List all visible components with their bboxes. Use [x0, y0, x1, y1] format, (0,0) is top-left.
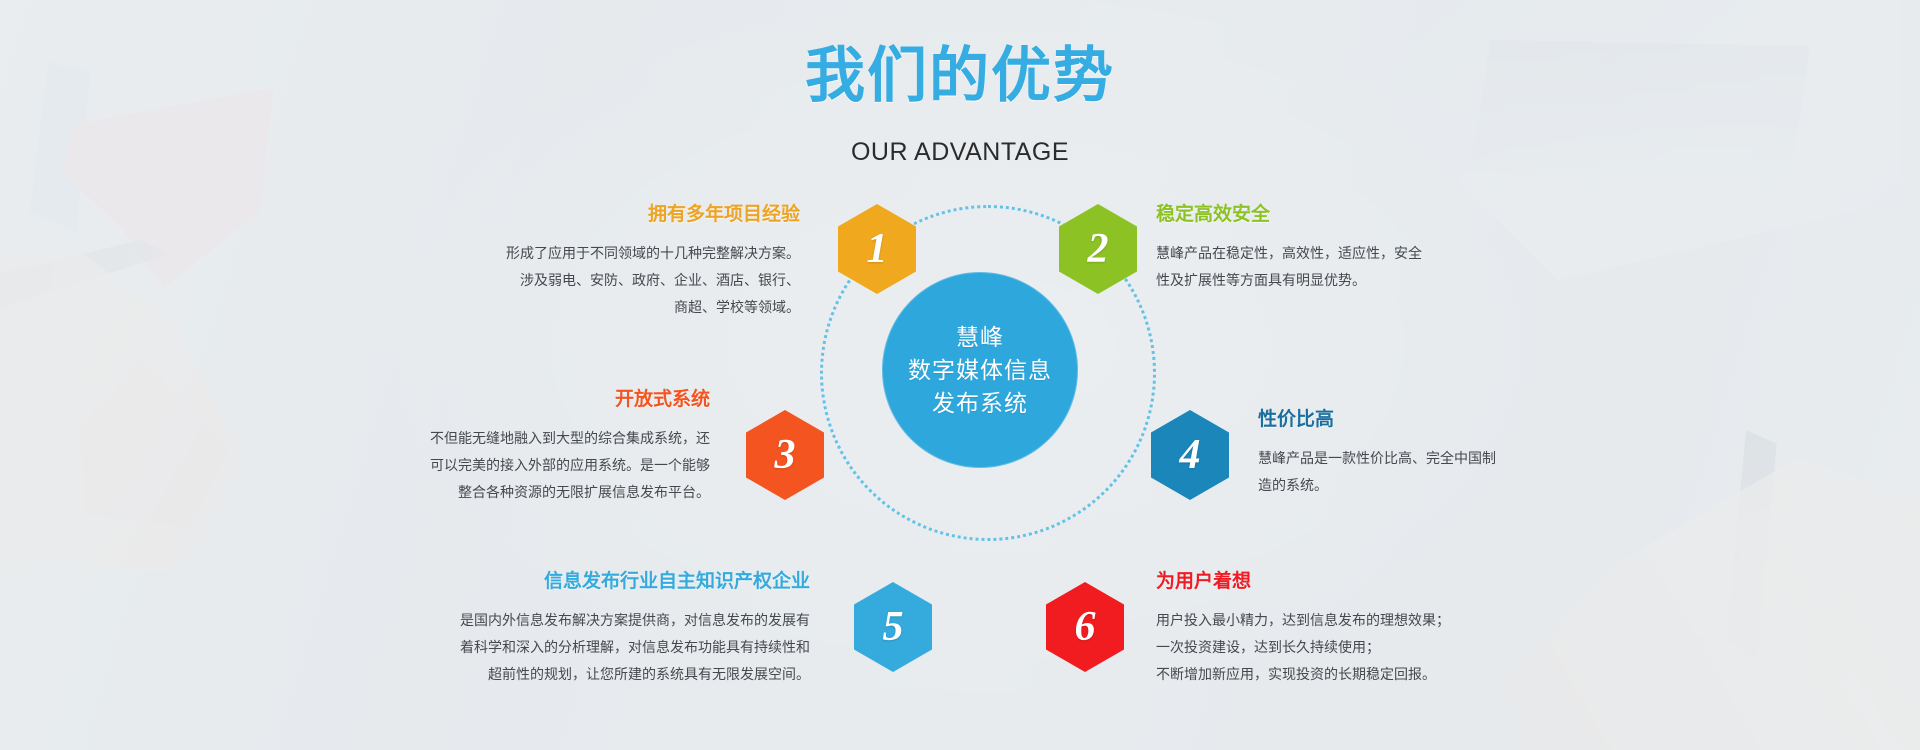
hexagon-badge-4[interactable]: 4 [1151, 410, 1229, 500]
advantage-item-6-body: 用户投入最小精力，达到信息发布的理想效果； 一次投资建设，达到长久持续使用； 不… [1156, 607, 1616, 688]
center-line-3: 发布系统 [932, 387, 1028, 420]
advantage-item-2-title: 稳定高效安全 [1156, 205, 1576, 224]
advantage-item-6-title: 为用户着想 [1156, 572, 1616, 591]
advantage-item-3-body: 不但能无缝地融入到大型的综合集成系统，还 可以完美的接入外部的应用系统。是一个能… [310, 425, 710, 506]
advantage-item-1-title: 拥有多年项目经验 [400, 205, 800, 224]
advantage-banner: 我们的优势 OUR ADVANTAGE 慧峰 数字媒体信息 发布系统 1 2 3… [0, 0, 1920, 750]
center-line-2: 数字媒体信息 [908, 354, 1052, 387]
advantage-item-5-body: 是国内外信息发布解决方案提供商，对信息发布的发展有 着科学和深入的分析理解，对信… [300, 607, 810, 688]
advantage-item-4: 性价比高 慧峰产品是一款性价比高、完全中国制 造的系统。 [1258, 410, 1658, 499]
advantage-item-5: 信息发布行业自主知识产权企业 是国内外信息发布解决方案提供商，对信息发布的发展有… [300, 572, 810, 688]
page-title: 我们的优势 [0, 46, 1920, 106]
page-subtitle: OUR ADVANTAGE [0, 140, 1920, 165]
advantage-item-2-body: 慧峰产品在稳定性，高效性，适应性，安全 性及扩展性等方面具有明显优势。 [1156, 240, 1576, 294]
advantage-item-5-title: 信息发布行业自主知识产权企业 [300, 572, 810, 591]
center-circle-logo: 慧峰 数字媒体信息 发布系统 [882, 272, 1078, 468]
advantage-item-4-title: 性价比高 [1258, 410, 1658, 429]
hexagon-badge-5[interactable]: 5 [854, 582, 932, 672]
advantage-item-3-title: 开放式系统 [310, 390, 710, 409]
advantage-item-6: 为用户着想 用户投入最小精力，达到信息发布的理想效果； 一次投资建设，达到长久持… [1156, 572, 1616, 688]
hexagon-badge-6[interactable]: 6 [1046, 582, 1124, 672]
advantage-item-2: 稳定高效安全 慧峰产品在稳定性，高效性，适应性，安全 性及扩展性等方面具有明显优… [1156, 205, 1576, 294]
hexagon-badge-3[interactable]: 3 [746, 410, 824, 500]
advantage-content: 我们的优势 OUR ADVANTAGE 慧峰 数字媒体信息 发布系统 1 2 3… [0, 0, 1920, 750]
center-line-1: 慧峰 [956, 321, 1004, 354]
advantage-item-3: 开放式系统 不但能无缝地融入到大型的综合集成系统，还 可以完美的接入外部的应用系… [310, 390, 710, 506]
advantage-item-1: 拥有多年项目经验 形成了应用于不同领域的十几种完整解决方案。 涉及弱电、安防、政… [400, 205, 800, 321]
advantage-item-4-body: 慧峰产品是一款性价比高、完全中国制 造的系统。 [1258, 445, 1658, 499]
advantage-item-1-body: 形成了应用于不同领域的十几种完整解决方案。 涉及弱电、安防、政府、企业、酒店、银… [400, 240, 800, 321]
